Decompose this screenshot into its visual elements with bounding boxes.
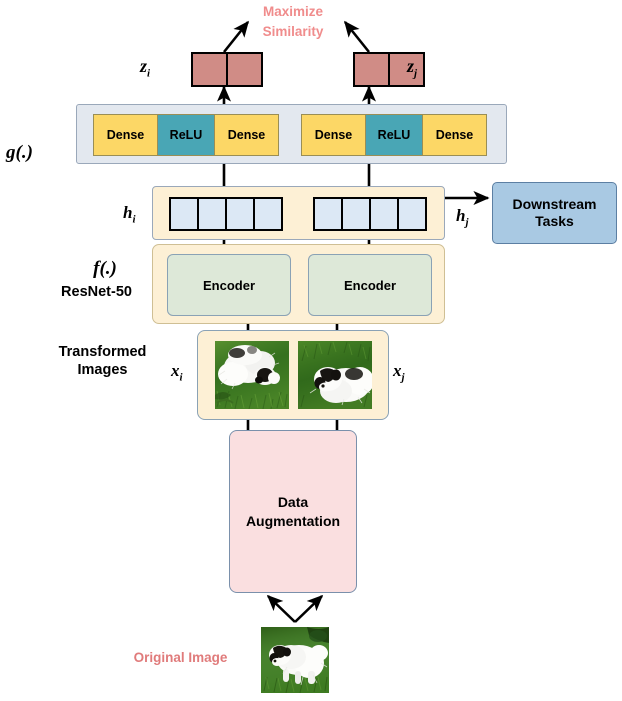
projection-head-branch-j: Dense ReLU Dense xyxy=(301,114,487,156)
projection-dense-j-1: Dense xyxy=(423,115,486,155)
f-function-label: f(.) xyxy=(60,258,150,280)
h-j-cell-3 xyxy=(399,199,425,229)
encoder-container: Encoder Encoder xyxy=(152,244,445,324)
encoder-box-i: Encoder xyxy=(167,254,291,316)
g-function-label: g(.) xyxy=(6,142,33,164)
h-j-label: hj xyxy=(456,206,469,228)
h-i-label: hi xyxy=(123,203,136,225)
simclr-diagram: Maximize Similarity zi zj Dense ReLU Den… xyxy=(0,0,622,701)
z-i-vector xyxy=(191,52,263,87)
representation-container xyxy=(152,186,445,240)
projection-relu-i: ReLU xyxy=(158,115,215,155)
z-j-cell-0 xyxy=(355,54,388,85)
z-i-cell-1 xyxy=(226,54,261,85)
projection-relu-j: ReLU xyxy=(366,115,423,155)
maximize-similarity-label: Maximize Similarity xyxy=(238,2,348,41)
x-i-label: xi xyxy=(171,361,183,383)
projection-dense-i-0: Dense xyxy=(94,115,158,155)
h-i-cell-1 xyxy=(199,199,227,229)
resnet-label: ResNet-50 xyxy=(44,284,149,300)
z-j-label: zj xyxy=(407,56,417,80)
z-i-label: zi xyxy=(140,56,150,80)
original-image-label: Original Image xyxy=(118,650,243,665)
downstream-tasks-box[interactable]: Downstream Tasks xyxy=(492,182,617,244)
h-i-cell-3 xyxy=(255,199,281,229)
projection-head-branch-i: Dense ReLU Dense xyxy=(93,114,279,156)
h-j-cell-0 xyxy=(315,199,343,229)
x-j-label: xj xyxy=(393,361,405,383)
transformed-images-label: Transformed Images xyxy=(40,343,165,379)
h-j-cell-2 xyxy=(371,199,399,229)
h-j-cell-1 xyxy=(343,199,371,229)
h-j-vector xyxy=(313,197,427,231)
projection-head-container: Dense ReLU Dense Dense ReLU Dense xyxy=(76,104,507,164)
h-i-vector xyxy=(169,197,283,231)
data-augmentation-box: Data Augmentation xyxy=(229,430,357,593)
h-i-cell-0 xyxy=(171,199,199,229)
z-i-cell-0 xyxy=(193,54,226,85)
projection-dense-i-1: Dense xyxy=(215,115,278,155)
h-i-cell-2 xyxy=(227,199,255,229)
projection-dense-j-0: Dense xyxy=(302,115,366,155)
transformed-image-j xyxy=(298,341,372,409)
transformed-image-i xyxy=(215,341,289,409)
z-j-cell-1 xyxy=(388,54,423,85)
original-image xyxy=(261,627,329,693)
encoder-box-j: Encoder xyxy=(308,254,432,316)
transformed-images-container xyxy=(197,330,389,420)
